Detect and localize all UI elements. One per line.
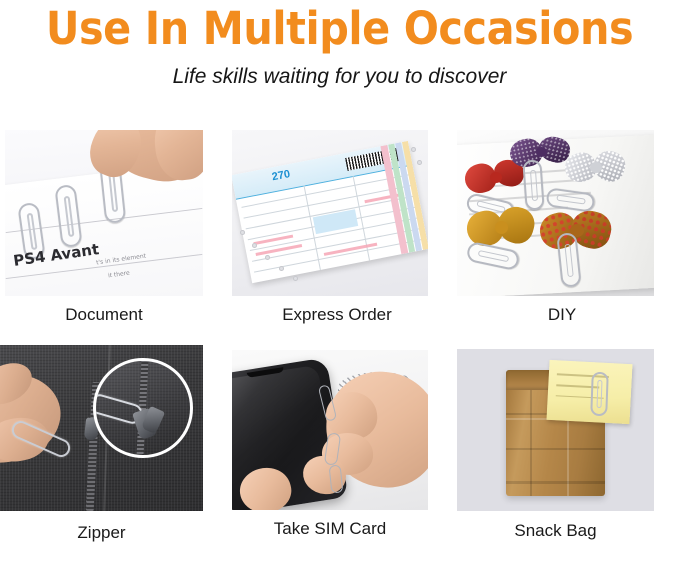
- caption-document: Document: [0, 304, 208, 326]
- waybill-pink-text: [255, 244, 302, 256]
- page-title: Use In Multiple Occasions: [27, 0, 652, 56]
- bag-crease: [506, 481, 605, 484]
- bag-crease: [506, 448, 605, 450]
- perforation-hole: [411, 147, 416, 152]
- caption-take-sim-card: Take SIM Card: [232, 518, 428, 540]
- yellow-note: [546, 360, 632, 424]
- perforation-hole: [240, 230, 245, 235]
- scene-express-order: 270: [232, 130, 428, 296]
- thumbnail-diy: [457, 130, 654, 296]
- paperclip: [522, 159, 544, 210]
- scene-document: PS4 Avant t's in its element it there: [5, 130, 203, 296]
- grid-cell-snack-bag: Snack Bag: [452, 336, 678, 551]
- phone-notch: [247, 367, 284, 377]
- bow-silver: [565, 150, 624, 187]
- scene-zipper: [0, 345, 203, 511]
- grid-cell-take-sim-card: Take SIM Card: [226, 336, 452, 551]
- scene-snack-bag: [457, 349, 654, 511]
- thumbnail-zipper: [0, 345, 203, 511]
- page-subtitle: Life skills waiting for you to discover: [0, 56, 679, 90]
- grid-cell-document: PS4 Avant t's in its element it there Do…: [0, 121, 226, 336]
- caption-snack-bag: Snack Bag: [457, 520, 654, 542]
- perforation-hole: [417, 160, 422, 165]
- caption-diy: DIY: [458, 304, 666, 326]
- header-block: Use In Multiple Occasions Life skills wa…: [0, 0, 679, 90]
- waybill-form: 270: [232, 140, 428, 282]
- thumbnail-document: PS4 Avant t's in its element it there: [5, 130, 203, 296]
- paperclip: [590, 371, 609, 416]
- scene-take-sim-card: [232, 350, 428, 510]
- grid-cell-zipper: Zipper: [0, 336, 226, 551]
- perforation-hole: [252, 243, 257, 248]
- occasions-grid: PS4 Avant t's in its element it there Do…: [0, 121, 679, 551]
- caption-zipper: Zipper: [0, 522, 203, 544]
- magnifier-inset: [93, 358, 192, 457]
- perforation-hole: [293, 276, 298, 281]
- caption-express-order: Express Order: [233, 304, 441, 326]
- thumbnail-take-sim-card: [232, 350, 428, 510]
- grid-cell-diy: DIY: [452, 121, 678, 336]
- thumbnail-snack-bag: [457, 349, 654, 511]
- thumbnail-express-order: 270: [232, 130, 428, 296]
- scene-diy: [457, 130, 654, 296]
- grid-cell-express-order: 270: [226, 121, 452, 336]
- perforation-hole: [265, 255, 270, 260]
